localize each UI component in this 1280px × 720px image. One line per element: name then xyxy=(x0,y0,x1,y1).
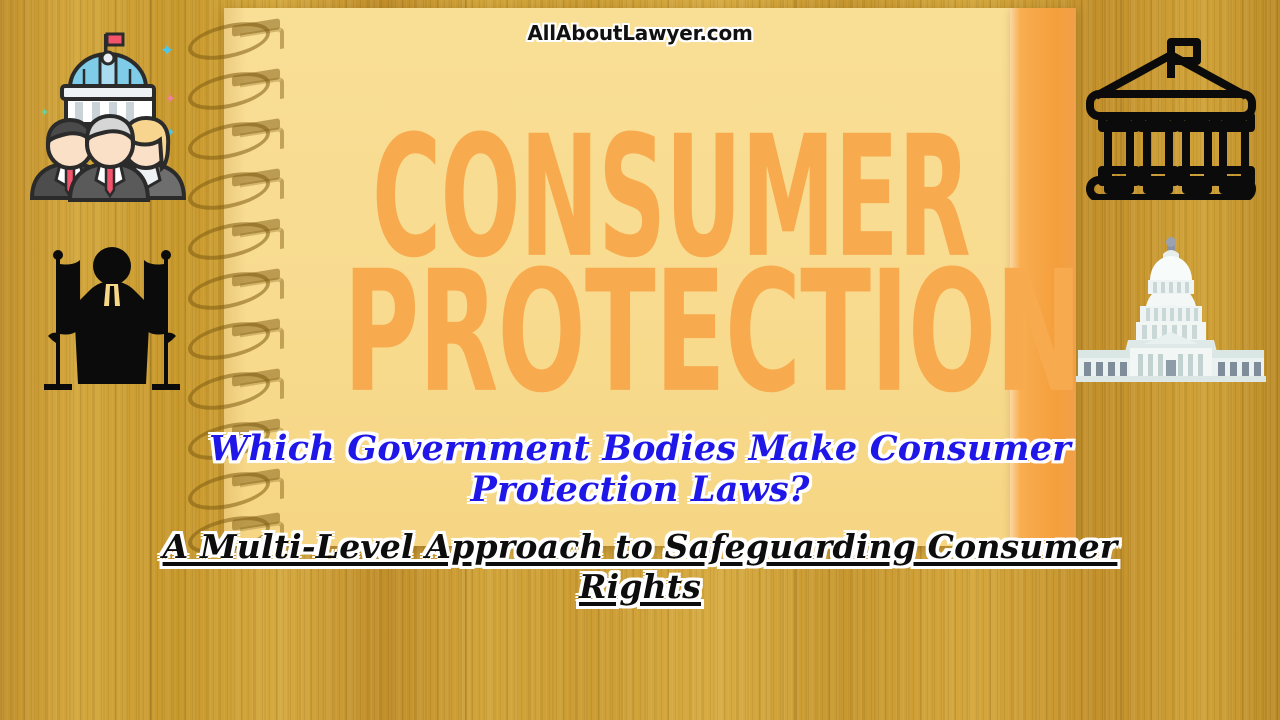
headline-subtitle-text: A Multi-Level Approach to Safeguarding C… xyxy=(163,527,1118,606)
spiral-coil xyxy=(188,324,280,354)
government-officials-with-capitol-dome-icon xyxy=(18,28,198,208)
headline-subtitle: A Multi-Level Approach to Safeguarding C… xyxy=(120,527,1160,608)
spiral-coil xyxy=(188,374,280,404)
spiral-coil xyxy=(188,74,280,104)
headline-block: Which Government Bodies Make Consumer Pr… xyxy=(120,428,1160,607)
courthouse-building-icon xyxy=(1082,30,1260,200)
spiral-coil xyxy=(188,224,280,254)
spiral-coil xyxy=(188,274,280,304)
poster-canvas: CONSUMER PROTECTION AllAboutLawyer.com ✦… xyxy=(0,0,1280,720)
us-capitol-building-icon xyxy=(1068,236,1274,386)
spiral-coil xyxy=(188,124,280,154)
headline-question: Which Government Bodies Make Consumer Pr… xyxy=(120,428,1160,511)
spiral-coil xyxy=(188,174,280,204)
watermark-text: CONSUMER PROTECTION xyxy=(300,120,1020,363)
watermark-line-2: PROTECTION xyxy=(343,255,977,409)
speaker-at-podium-with-flags-icon xyxy=(28,236,198,394)
